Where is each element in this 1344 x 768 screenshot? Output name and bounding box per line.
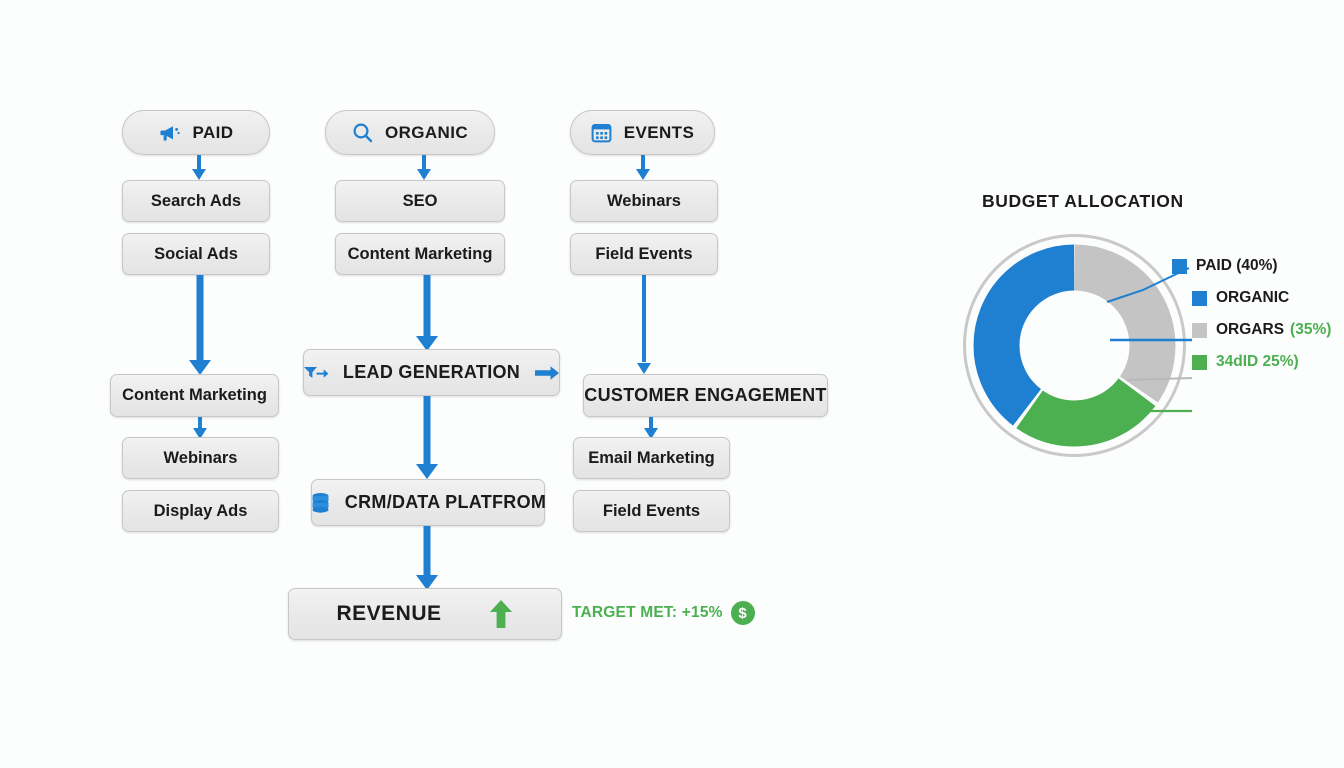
- node-content-marketing-paid[interactable]: Content Marketing: [110, 374, 279, 417]
- node-label: Field Events: [603, 502, 700, 521]
- node-label: Social Ads: [154, 245, 238, 264]
- diagram-canvas: PAID Search Ads Social Ads Content Marke…: [0, 0, 1344, 768]
- node-label: Search Ads: [151, 192, 241, 211]
- legend-item-paid[interactable]: PAID (40%): [1172, 257, 1278, 275]
- node-label: PAID: [193, 123, 234, 143]
- budget-allocation-donut-chart: [957, 228, 1192, 463]
- node-label: Content Marketing: [348, 245, 493, 264]
- legend-label: ORGARS: [1216, 321, 1284, 339]
- legend-item-organic-pct[interactable]: ORGARS (35%): [1192, 321, 1331, 339]
- node-display-ads[interactable]: Display Ads: [122, 490, 279, 532]
- connector-paid-to-search-ads: [189, 155, 209, 180]
- node-lead-generation[interactable]: LEAD GENERATION: [303, 349, 560, 396]
- node-label: EVENTS: [624, 123, 694, 143]
- node-crm-data-platform[interactable]: CRM/DATA PLATFROM: [311, 479, 545, 526]
- target-met-note: TARGET MET: +15% $: [572, 601, 755, 625]
- node-revenue[interactable]: REVENUE: [288, 588, 562, 640]
- legend-item-organic[interactable]: ORGANIC: [1192, 289, 1289, 307]
- node-label: Webinars: [164, 449, 238, 468]
- connector-field-events-to-customer-engagement: [634, 275, 654, 374]
- node-label: SEO: [403, 192, 438, 211]
- node-label: Content Marketing: [122, 386, 267, 405]
- target-met-text: TARGET MET: +15%: [572, 604, 723, 622]
- node-label: REVENUE: [336, 602, 441, 626]
- legend-label: PAID (40%): [1196, 257, 1278, 275]
- node-content-marketing-organic[interactable]: Content Marketing: [335, 233, 505, 275]
- legend-swatch-paid: [1172, 259, 1187, 274]
- connector-social-ads-to-content-marketing: [188, 275, 212, 375]
- arrow-up-icon: [488, 599, 514, 629]
- node-organic-header[interactable]: ORGANIC: [325, 110, 495, 155]
- node-seo[interactable]: SEO: [335, 180, 505, 222]
- legend-label: ORGANIC: [1216, 289, 1289, 307]
- node-label: Field Events: [595, 245, 692, 264]
- node-label: LEAD GENERATION: [343, 362, 520, 383]
- legend-swatch-organic: [1192, 291, 1207, 306]
- arrow-right-icon: [534, 364, 560, 382]
- database-icon: [310, 492, 331, 514]
- node-social-ads[interactable]: Social Ads: [122, 233, 270, 275]
- node-webinars-paid[interactable]: Webinars: [122, 437, 279, 479]
- node-field-events-top[interactable]: Field Events: [570, 233, 718, 275]
- node-label: CUSTOMER ENGAGEMENT: [584, 385, 826, 406]
- legend-swatch-gray: [1192, 323, 1207, 338]
- legend-value: (35%): [1290, 321, 1331, 339]
- node-paid-header[interactable]: PAID: [122, 110, 270, 155]
- funnel-icon: [303, 364, 329, 382]
- connector-customer-engagement-to-email-marketing: [641, 417, 661, 439]
- node-email-marketing[interactable]: Email Marketing: [573, 437, 730, 479]
- legend-label: 34dID 25%): [1216, 353, 1299, 371]
- node-label: Email Marketing: [588, 449, 715, 468]
- connector-content-marketing-to-lead-generation: [415, 275, 439, 351]
- connector-lead-generation-to-crm: [415, 396, 439, 479]
- node-label: CRM/DATA PLATFROM: [345, 492, 546, 513]
- search-icon: [352, 122, 373, 143]
- chart-title: BUDGET ALLOCATION: [982, 191, 1184, 212]
- node-label: Display Ads: [154, 502, 248, 521]
- node-events-header[interactable]: EVENTS: [570, 110, 715, 155]
- connector-content-marketing-to-webinars: [190, 417, 210, 439]
- node-webinars-events[interactable]: Webinars: [570, 180, 718, 222]
- legend-swatch-events: [1192, 355, 1207, 370]
- node-field-events-bottom[interactable]: Field Events: [573, 490, 730, 532]
- calendar-icon: [591, 122, 612, 143]
- connector-organic-to-seo: [414, 155, 434, 180]
- node-customer-engagement[interactable]: CUSTOMER ENGAGEMENT: [583, 374, 828, 417]
- node-label: Webinars: [607, 192, 681, 211]
- node-search-ads[interactable]: Search Ads: [122, 180, 270, 222]
- node-label: ORGANIC: [385, 123, 468, 143]
- connector-events-to-webinars: [633, 155, 653, 180]
- dollar-coin-icon: $: [731, 601, 755, 625]
- megaphone-icon: [159, 124, 181, 142]
- legend-item-events[interactable]: 34dID 25%): [1192, 353, 1299, 371]
- connector-crm-to-revenue: [415, 526, 439, 590]
